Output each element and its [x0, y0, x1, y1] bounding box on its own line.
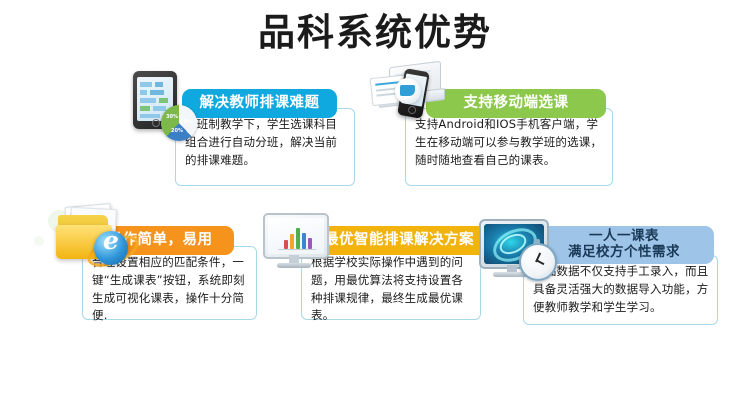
page-title: 品科系统优势	[0, 2, 750, 56]
chart-bar	[284, 240, 288, 249]
card-4-header[interactable]: 最优智能排课解决方案	[310, 226, 488, 255]
card-5-header-line1: 一人一课表	[589, 229, 659, 245]
stopwatch-crown	[534, 239, 540, 244]
laptop-smartphone-icon	[371, 62, 461, 137]
monitor-clock-icon	[479, 219, 559, 281]
pie-chart-shape: 50% 30% 20%	[161, 105, 197, 141]
monitor-stand	[277, 263, 311, 268]
monitor-shape	[263, 213, 329, 259]
tablet-pie-chart-icon: 50% 30% 20%	[133, 71, 203, 143]
card-1-header[interactable]: 解决教师排课难题	[182, 89, 337, 118]
card-5-header[interactable]: 一人一课表 满足校方个性需求	[534, 226, 714, 264]
monitor-screen	[268, 218, 324, 254]
chart-bar	[302, 233, 306, 249]
chart-bar	[290, 234, 294, 249]
folder-documents-browser-icon	[56, 205, 140, 275]
pie-label-1: 50%	[180, 119, 192, 125]
internet-explorer-icon	[94, 231, 128, 265]
magnifier-highlight	[395, 78, 421, 104]
stopwatch-icon	[519, 243, 557, 281]
chart-baseline	[278, 249, 316, 250]
pie-label-2: 30%	[166, 114, 178, 120]
chart-bar	[296, 228, 300, 249]
decorative-blob	[34, 236, 44, 246]
chart-bar	[308, 238, 312, 249]
pie-label-3: 20%	[171, 128, 183, 134]
slide-canvas: 品科系统优势 50% 30% 20	[0, 0, 750, 414]
card-5-header-line2: 满足校方个性需求	[568, 245, 680, 261]
tablet-home-button	[152, 119, 160, 127]
smartphone-home-button	[407, 105, 416, 114]
desktop-monitor-chart-icon	[263, 213, 333, 273]
